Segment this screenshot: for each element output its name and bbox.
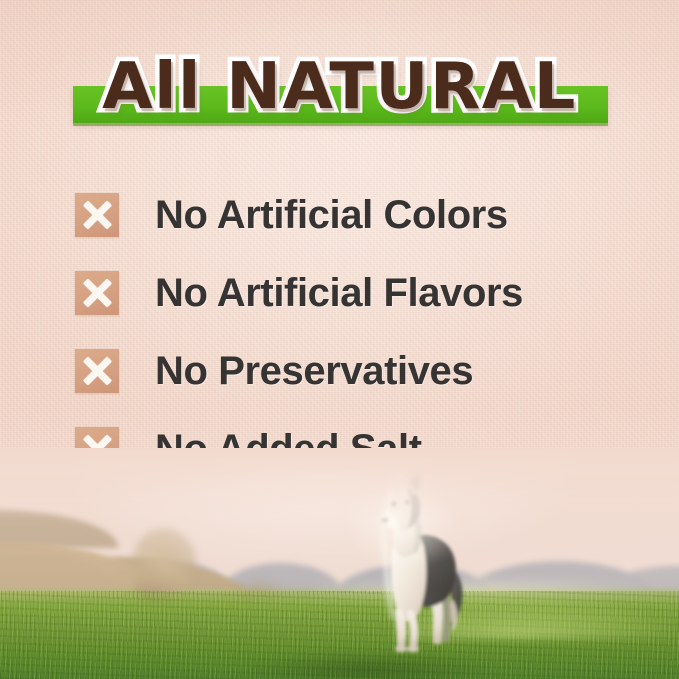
- x-mark-icon: [75, 271, 119, 315]
- claim-label: No Preservatives: [155, 349, 473, 393]
- all-natural-product-poster: All NATURAL No Artificial Colors No Arti…: [0, 0, 679, 679]
- claim-label: No Artificial Flavors: [155, 271, 523, 315]
- photo-top-fade: [0, 448, 679, 518]
- claims-list: No Artificial Colors No Artificial Flavo…: [0, 176, 679, 488]
- claim-label: No Artificial Colors: [155, 193, 508, 237]
- claim-row: No Artificial Flavors: [0, 254, 679, 332]
- claim-row: No Artificial Colors: [0, 176, 679, 254]
- x-mark-icon: [75, 193, 119, 237]
- claim-row: No Preservatives: [0, 332, 679, 410]
- x-mark-icon: [75, 349, 119, 393]
- headline-text: All NATURAL: [0, 44, 679, 130]
- headline-banner: All NATURAL: [0, 44, 679, 144]
- landscape-photo: [0, 448, 679, 679]
